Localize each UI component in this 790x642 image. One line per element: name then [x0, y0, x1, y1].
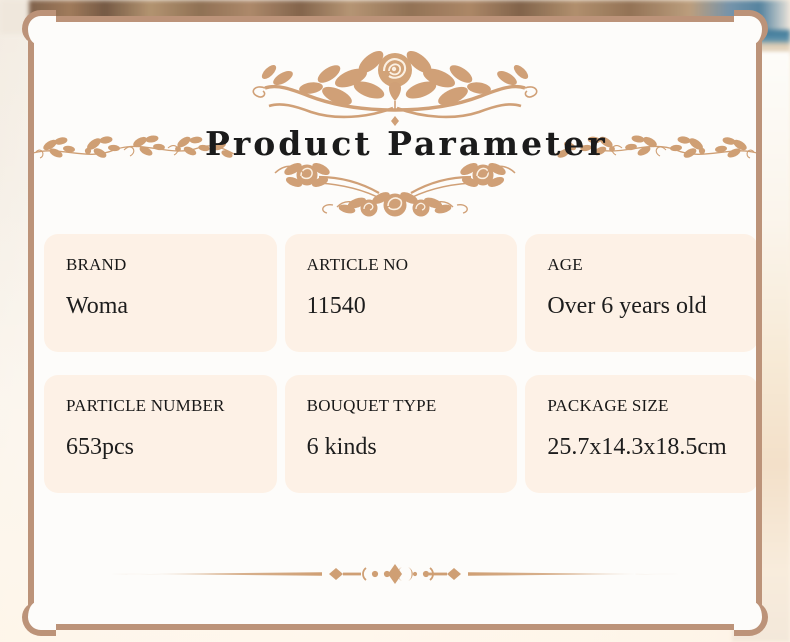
title-block: Product Parameter [205, 48, 585, 225]
param-card-brand: BRAND Woma [44, 234, 277, 352]
param-label: BRAND [66, 256, 255, 273]
page-title: Product Parameter [205, 124, 585, 163]
param-value: 11540 [307, 294, 496, 318]
param-value: 6 kinds [307, 435, 496, 459]
param-value: 25.7x14.3x18.5cm [547, 435, 736, 459]
content-panel: Product Parameter [34, 22, 756, 624]
param-label: PARTICLE NUMBER [66, 397, 255, 414]
param-label: PACKAGE SIZE [547, 397, 736, 414]
param-label: BOUQUET TYPE [307, 397, 496, 414]
param-label: AGE [547, 256, 736, 273]
product-parameter-banner: Product Parameter [0, 0, 790, 642]
param-card-age: AGE Over 6 years old [525, 234, 756, 352]
ornamental-frame: Product Parameter [28, 16, 762, 630]
parameter-grid: BRAND Woma ARTICLE NO 11540 AGE Over 6 y… [44, 234, 756, 493]
param-value: Over 6 years old [547, 294, 736, 318]
param-value: 653pcs [66, 435, 255, 459]
param-label: ARTICLE NO [307, 256, 496, 273]
param-card-package-size: PACKAGE SIZE 25.7x14.3x18.5cm [525, 375, 756, 493]
header: Product Parameter [34, 22, 756, 228]
param-card-bouquet-type: BOUQUET TYPE 6 kinds [285, 375, 518, 493]
param-value: Woma [66, 294, 255, 318]
param-card-article-no: ARTICLE NO 11540 [285, 234, 518, 352]
diamond-dot-divider-icon [110, 562, 680, 586]
param-card-particle-number: PARTICLE NUMBER 653pcs [44, 375, 277, 493]
rose-scroll-ornament-icon [245, 159, 545, 225]
